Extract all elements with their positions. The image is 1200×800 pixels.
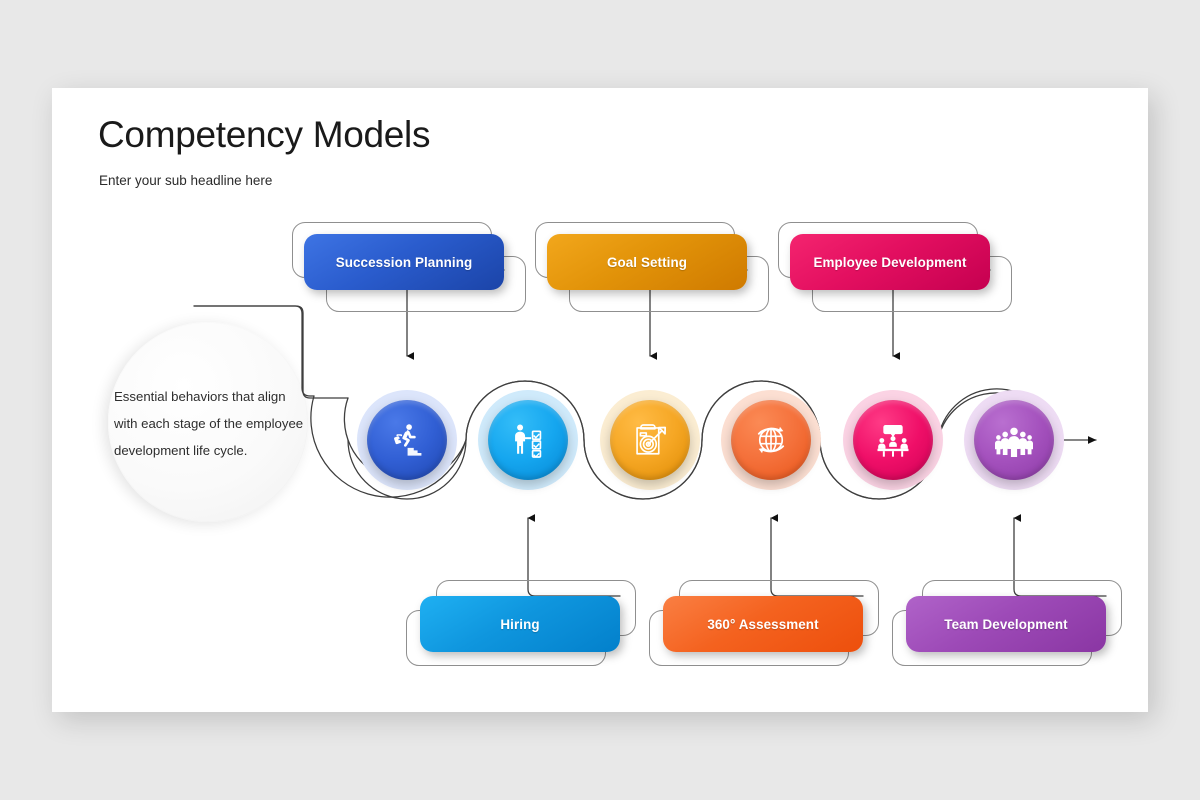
label-card-team-development[interactable]: Team Development [906, 596, 1106, 652]
node-disc[interactable] [610, 400, 690, 480]
node-disc[interactable] [731, 400, 811, 480]
card-label[interactable]: Goal Setting [547, 234, 747, 290]
card-label[interactable]: Team Development [906, 596, 1106, 652]
label-card-succession-planning[interactable]: Succession Planning [304, 234, 504, 290]
card-label[interactable]: Hiring [420, 596, 620, 652]
person-with-checklist-icon [508, 420, 548, 460]
meeting-table-speech-bubble-icon [873, 420, 913, 460]
screenshot-root: Competency Models Enter your sub headlin… [0, 0, 1200, 800]
slide-canvas: Competency Models Enter your sub headlin… [52, 88, 1148, 712]
label-card-hiring[interactable]: Hiring [420, 596, 620, 652]
node-disc[interactable] [488, 400, 568, 480]
stage-node-360-assessment[interactable] [721, 390, 821, 490]
globe-rotating-arrows-icon [751, 420, 791, 460]
node-disc[interactable] [974, 400, 1054, 480]
node-disc[interactable] [853, 400, 933, 480]
card-label[interactable]: Employee Development [790, 234, 990, 290]
label-card-360-assessment[interactable]: 360° Assessment [663, 596, 863, 652]
card-label[interactable]: 360° Assessment [663, 596, 863, 652]
card-label[interactable]: Succession Planning [304, 234, 504, 290]
stage-node-hiring[interactable] [478, 390, 578, 490]
label-card-employee-development[interactable]: Employee Development [790, 234, 990, 290]
person-climbing-stairs-with-briefcase-icon [387, 420, 427, 460]
stage-node-employee-development[interactable] [843, 390, 943, 490]
node-disc[interactable] [367, 400, 447, 480]
stage-node-team-development[interactable] [964, 390, 1064, 490]
stage-node-succession-planning[interactable] [357, 390, 457, 490]
clipboard-target-arrow-icon [630, 420, 670, 460]
label-card-goal-setting[interactable]: Goal Setting [547, 234, 747, 290]
team-group-people-icon [994, 420, 1034, 460]
stage-node-goal-setting[interactable] [600, 390, 700, 490]
